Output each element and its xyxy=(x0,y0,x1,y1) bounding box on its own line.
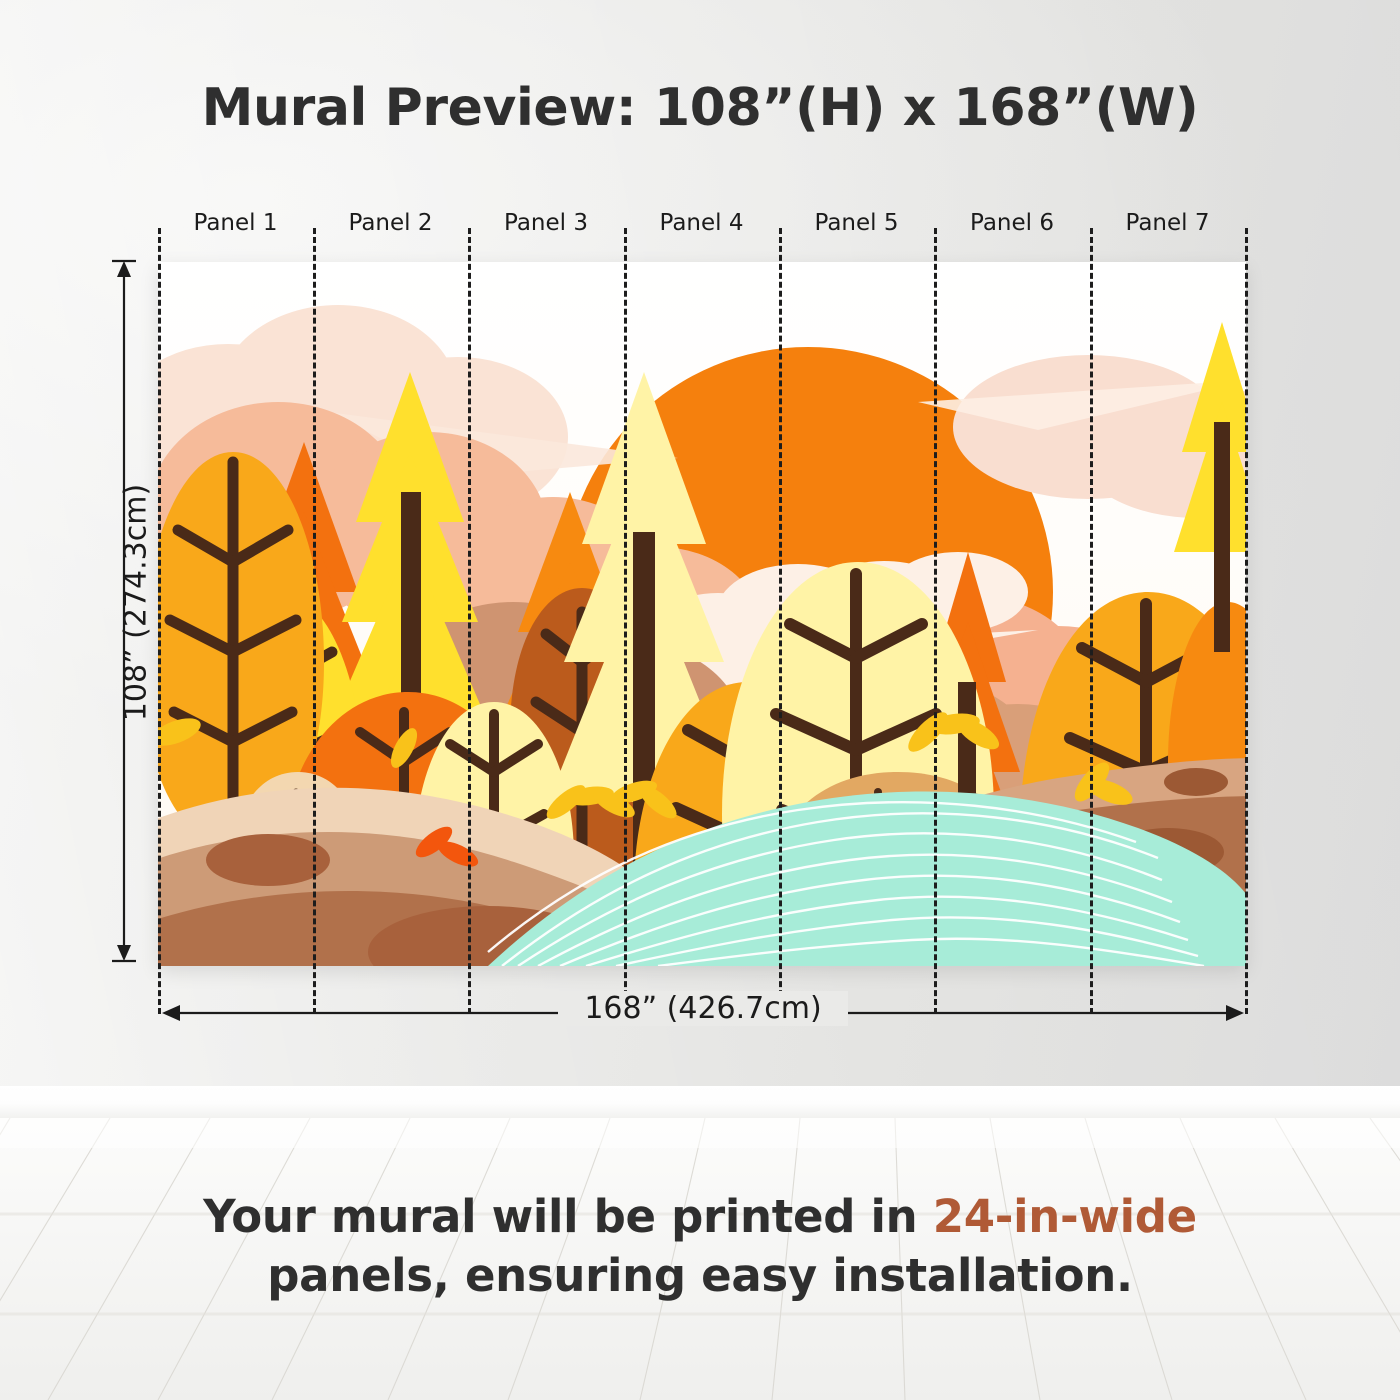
panel-label-6: Panel 6 xyxy=(934,210,1090,236)
page-title: Mural Preview: 108”(H) x 168”(W) xyxy=(0,78,1400,138)
caption-line-1: Your mural will be printed in 24-in-wide xyxy=(0,1188,1400,1247)
panel-label-5: Panel 5 xyxy=(779,210,934,236)
caption-line-2: panels, ensuring easy installation. xyxy=(0,1247,1400,1306)
caption-line-1-prefix: Your mural will be printed in xyxy=(203,1190,933,1243)
caption-highlight: 24-in-wide xyxy=(933,1190,1197,1243)
panel-label-3: Panel 3 xyxy=(468,210,624,236)
panel-label-2: Panel 2 xyxy=(313,210,468,236)
mural-artwork xyxy=(158,262,1246,966)
width-dimension-label: 168” (426.7cm) xyxy=(158,991,1248,1026)
baseboard xyxy=(0,1086,1400,1118)
width-dimension: 168” (426.7cm) xyxy=(158,995,1248,1031)
mural-preview-page: Mural Preview: 108”(H) x 168”(W) xyxy=(0,0,1400,1400)
mural-preview-image[interactable] xyxy=(158,262,1246,966)
footer-caption: Your mural will be printed in 24-in-wide… xyxy=(0,1188,1400,1305)
height-dimension-label: 108” (274.3cm) xyxy=(119,343,154,863)
panel-label-row: Panel 1 Panel 2 Panel 3 Panel 4 Panel 5 … xyxy=(0,210,1400,244)
panel-label-4: Panel 4 xyxy=(624,210,779,236)
panel-label-7: Panel 7 xyxy=(1090,210,1245,236)
height-dimension: 108” (274.3cm) xyxy=(104,255,146,967)
panel-label-1: Panel 1 xyxy=(158,210,313,236)
width-dimension-text: 168” (426.7cm) xyxy=(558,991,847,1026)
